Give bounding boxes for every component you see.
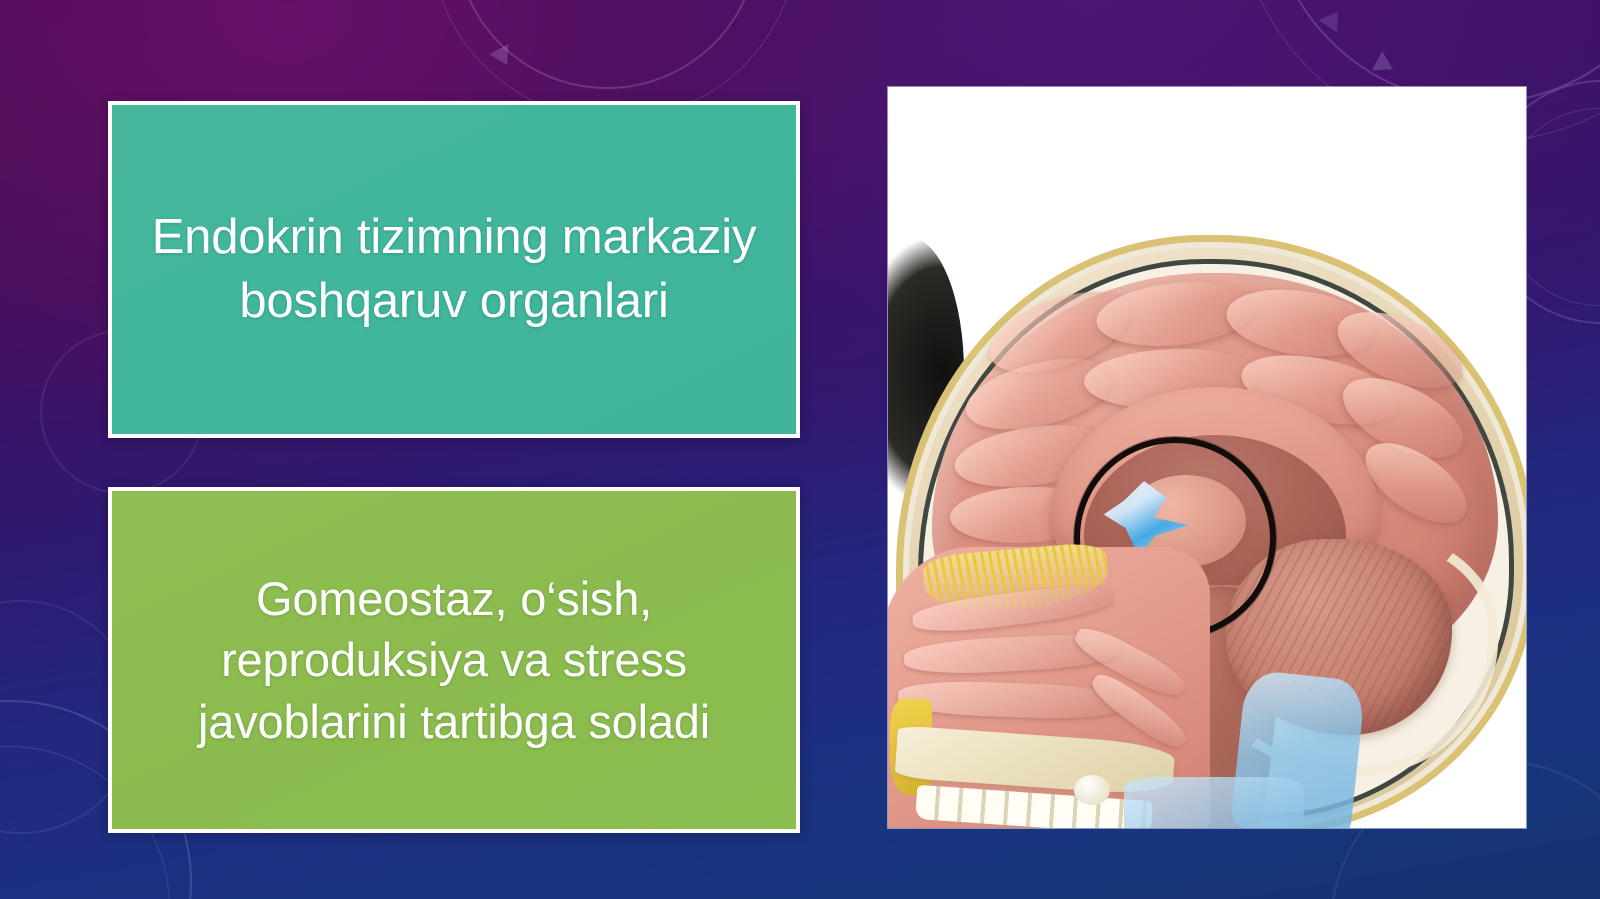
callout-box-teal: Endokrin tizimning markaziy boshqaruv or… <box>108 101 800 438</box>
oral-cavity-detail <box>1074 775 1110 805</box>
decorative-arrow-icon <box>1372 51 1398 79</box>
decorative-circle-icon <box>455 0 759 89</box>
brain-illustration-panel <box>888 87 1526 828</box>
decorative-arrow-icon <box>1319 5 1347 32</box>
presentation-slide: Endokrin tizimning markaziy boshqaruv or… <box>0 0 1600 899</box>
brain-sagittal-section-image <box>888 87 1526 828</box>
lower-airway-region <box>1124 777 1304 828</box>
callout-green-text: Gomeostaz, o‘sish, reproduksiya va stres… <box>112 568 796 753</box>
decorative-arrow-icon <box>489 44 517 70</box>
callout-box-green: Gomeostaz, o‘sish, reproduksiya va stres… <box>108 487 800 833</box>
callout-teal-text: Endokrin tizimning markaziy boshqaruv or… <box>112 206 796 333</box>
